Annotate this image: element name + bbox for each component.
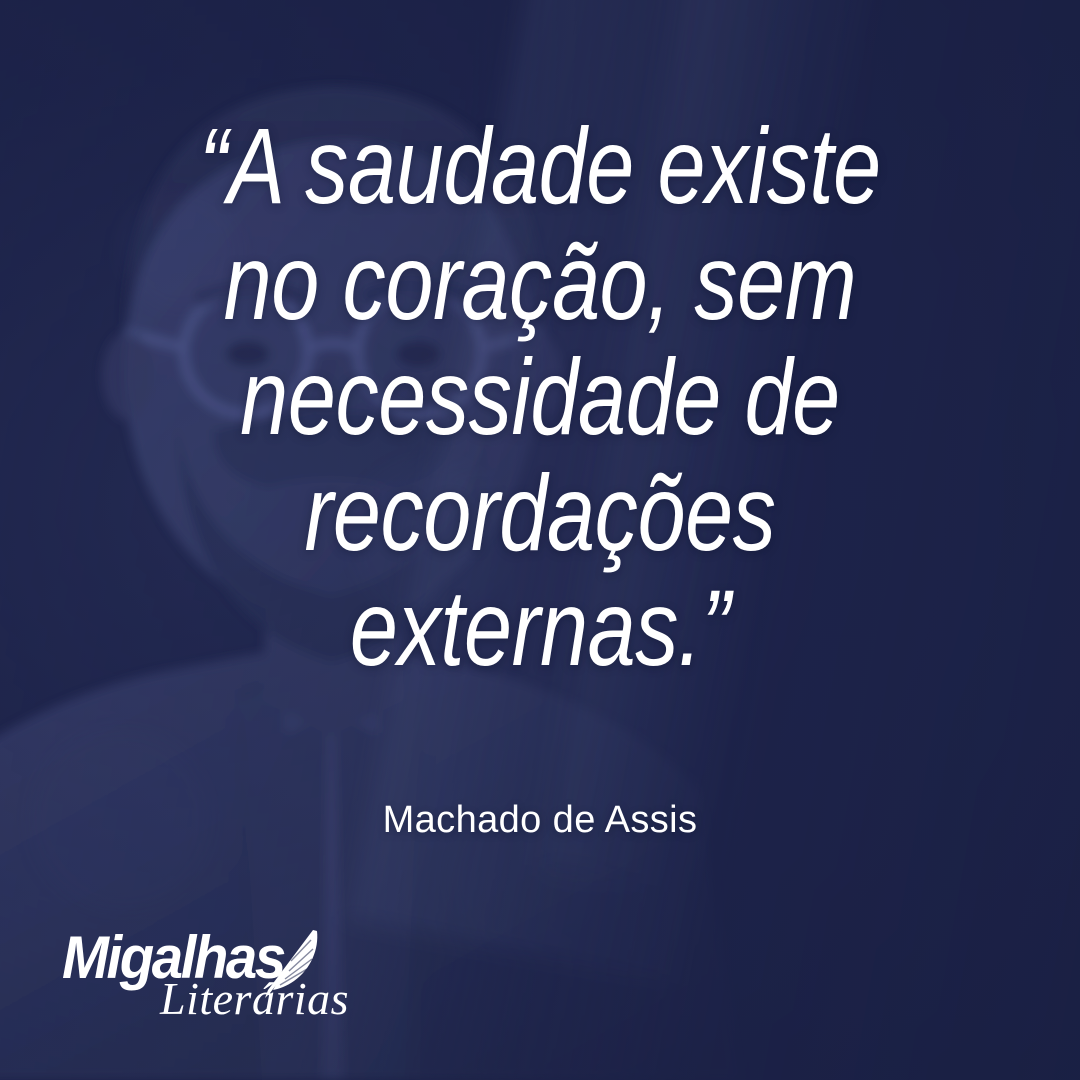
quote-text: “A saudade existe no coração, sem necess… — [156, 108, 924, 686]
logo-subtitle: Literárias — [160, 976, 349, 1022]
quote-card: “A saudade existe no coração, sem necess… — [0, 0, 1080, 1080]
quote-author: Machado de Assis — [0, 799, 1080, 842]
migalhas-literarias-logo[interactable]: Migalhas Literárias — [62, 928, 362, 1020]
